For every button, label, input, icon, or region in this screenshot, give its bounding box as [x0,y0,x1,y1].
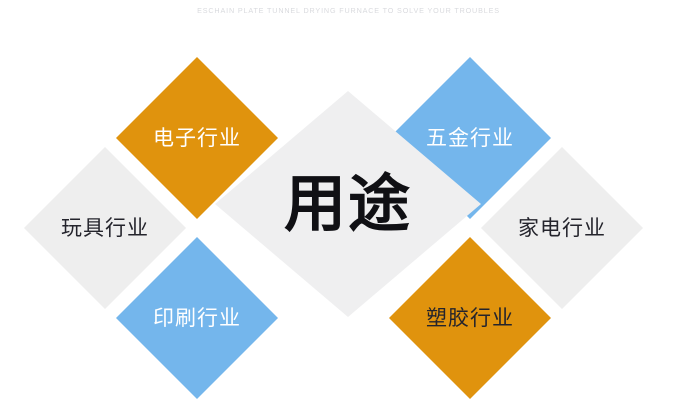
diamond-label-center-purpose: 用途 [284,173,412,235]
diamond-cluster: 玩具行业 家电行业 电子行业 五金行业 [0,20,697,414]
diamond-label-appliances: 家电行业 [518,218,606,239]
diamond-label-toys: 玩具行业 [61,218,149,239]
diamond-node-center-purpose[interactable]: 用途 [215,91,481,317]
page-banner: ESCHAIN PLATE TUNNEL DRYING FURNACE TO S… [0,0,697,20]
diagram-canvas: ESCHAIN PLATE TUNNEL DRYING FURNACE TO S… [0,0,697,414]
banner-tagline: ESCHAIN PLATE TUNNEL DRYING FURNACE TO S… [197,6,500,15]
